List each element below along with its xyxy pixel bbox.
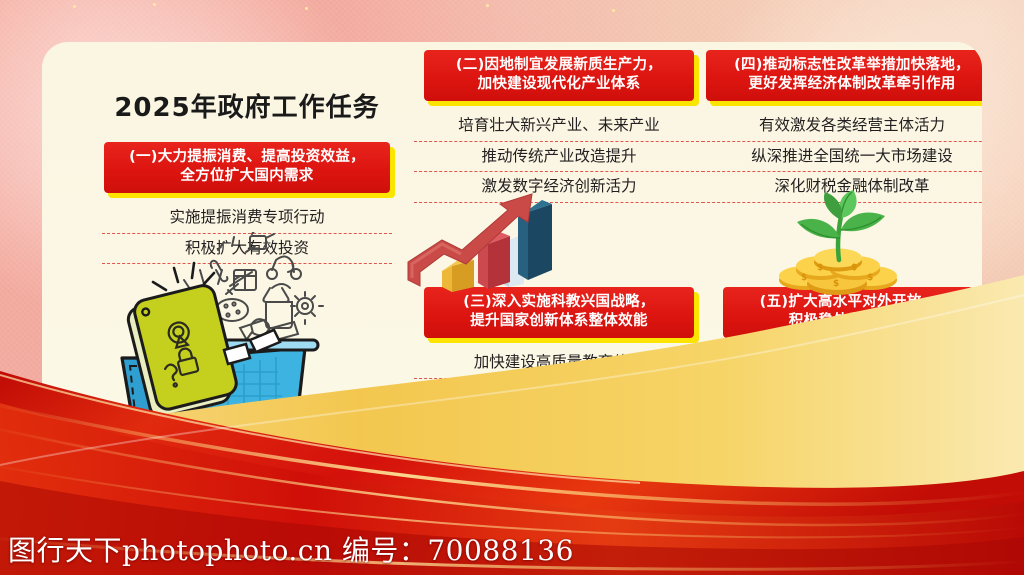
section-1-banner-text: (一)大力提振消费、提高投资效益， 全方位扩大国内需求 <box>104 142 390 193</box>
list-item: 推动传统产业改造提升 <box>414 142 704 172</box>
section-2-banner: (二)因地制宜发展新质生产力， 加快建设现代化产业体系 <box>424 50 694 101</box>
section-3-items: 有效激发各类经营主体活力 纵深推进全国统一大市场建设 深化财税金融体制改革 <box>702 111 982 202</box>
section-2: (二)因地制宜发展新质生产力， 加快建设现代化产业体系 培育壮大新兴产业、未来产… <box>414 50 704 203</box>
sprout-on-coins-illustration: $$ $$ $ <box>745 190 935 295</box>
watermark-text: 图行天下photophoto.cn 编号：70088136 <box>8 529 574 569</box>
banner-line: (三)深入实施科教兴国战略， <box>432 293 686 312</box>
list-item: 纵深推进全国统一大市场建设 <box>702 142 982 172</box>
sparkle-dot <box>305 7 308 10</box>
banner-line: 全方位扩大国内需求 <box>112 167 382 186</box>
banner-line: (四)推动标志性改革举措加快落地， <box>714 56 982 75</box>
list-item: 有效激发各类经营主体活力 <box>702 111 982 141</box>
svg-text:$: $ <box>817 263 823 273</box>
page-title: 2025年政府工作任务 <box>102 87 392 124</box>
section-3-banner-text: (四)推动标志性改革举措加快落地， 更好发挥经济体制改革牵引作用 <box>706 50 982 101</box>
list-item: 大力鼓励外贸投资 <box>702 379 982 409</box>
section-4-banner: (三)深入实施科教兴国战略， 提升国家创新体系整体效能 <box>424 287 694 338</box>
banner-line: 提升国家创新体系整体效能 <box>432 312 686 331</box>
banner-line: 更好发挥经济体制改革牵引作用 <box>714 75 982 94</box>
list-item: 实施提振消费专项行动 <box>102 203 392 233</box>
svg-text:$: $ <box>833 279 839 289</box>
sparkle-dot <box>612 9 615 12</box>
sparkle-dot <box>486 4 489 7</box>
section-3: (四)推动标志性改革举措加快落地， 更好发挥经济体制改革牵引作用 有效激发各类经… <box>702 50 982 203</box>
sparkle-dot <box>73 5 76 8</box>
shopping-cart-illustration <box>100 232 370 462</box>
svg-text:$: $ <box>867 273 873 283</box>
banner-line: (五)扩大高水平对外开放， <box>731 293 965 312</box>
section-3-banner: (四)推动标志性改革举措加快落地， 更好发挥经济体制改革牵引作用 <box>706 50 982 101</box>
rising-coin-stacks-illustration <box>672 415 872 515</box>
section-2-banner-text: (二)因地制宜发展新质生产力， 加快建设现代化产业体系 <box>424 50 694 101</box>
svg-text:$: $ <box>851 263 857 273</box>
list-item: 加快建设高质量教育体系 <box>414 348 704 378</box>
sparkle-dot <box>153 3 156 6</box>
banner-line: (二)因地制宜发展新质生产力， <box>432 56 686 75</box>
growth-bar-chart-illustration <box>400 188 640 293</box>
books-ladder-illustration <box>455 398 660 523</box>
svg-text:$: $ <box>801 273 807 283</box>
banner-line: 积极稳外贸稳外资 <box>731 312 965 331</box>
section-4-banner-text: (三)深入实施科教兴国战略， 提升国家创新体系整体效能 <box>424 287 694 338</box>
list-item: 稳定对外贸易发展 <box>702 348 982 378</box>
list-item: 培育壮大新兴产业、未来产业 <box>414 111 704 141</box>
banner-line: (一)大力提振消费、提高投资效益， <box>112 148 382 167</box>
banner-line: 加快建设现代化产业体系 <box>432 75 686 94</box>
poster-canvas: 2025年政府工作任务 (一)大力提振消费、提高投资效益， 全方位扩大国内需求 … <box>0 0 1024 575</box>
section-1-banner: (一)大力提振消费、提高投资效益， 全方位扩大国内需求 <box>104 142 390 193</box>
